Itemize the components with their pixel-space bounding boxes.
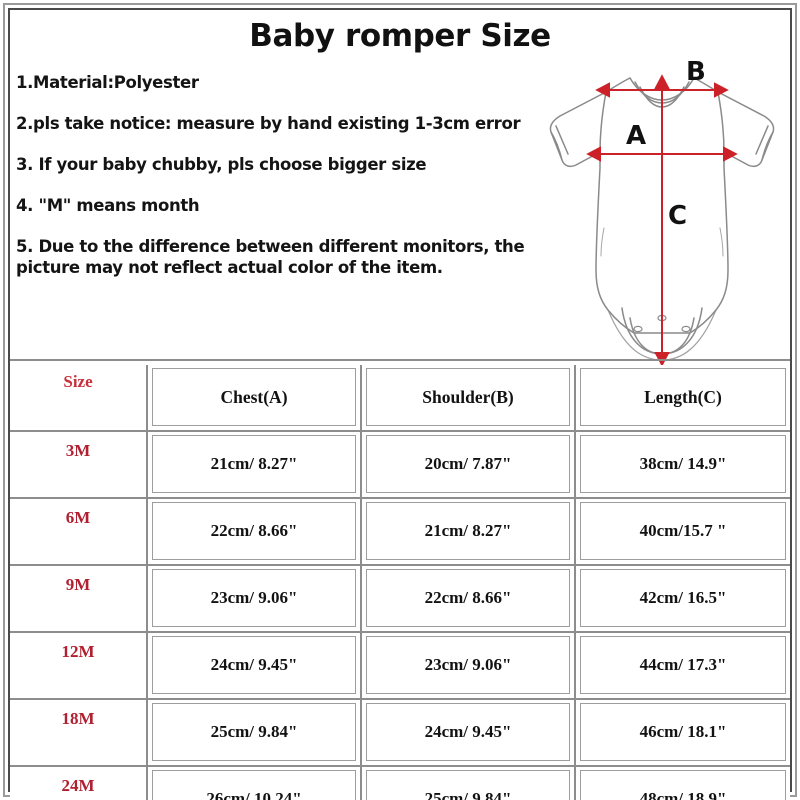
header-label-shoulder: Shoulder(B) xyxy=(366,368,570,426)
cell-length: 46cm/ 18.1" xyxy=(576,700,790,767)
size-table: Size Chest(A) Shoulder(B) Length(C) 3M xyxy=(10,365,790,800)
shoulder-value: 25cm/ 9.84" xyxy=(366,770,570,800)
length-value: 38cm/ 14.9" xyxy=(580,435,786,493)
cell-size: 12M xyxy=(10,633,148,700)
size-label: 18M xyxy=(10,700,146,758)
cell-chest: 21cm/ 8.27" xyxy=(148,432,362,499)
cell-shoulder: 24cm/ 9.45" xyxy=(362,700,576,767)
note-item: 3. If your baby chubby, pls choose bigge… xyxy=(16,154,536,175)
cell-length: 44cm/ 17.3" xyxy=(576,633,790,700)
size-label: 3M xyxy=(10,432,146,490)
cell-size: 9M xyxy=(10,566,148,633)
label-length-c: C xyxy=(668,201,687,231)
header-cell-size: Size xyxy=(10,365,148,432)
shoulder-value: 20cm/ 7.87" xyxy=(366,435,570,493)
table-row: 3M 21cm/ 8.27" 20cm/ 7.87" 38cm/ 14.9" xyxy=(10,432,790,499)
cell-chest: 25cm/ 9.84" xyxy=(148,700,362,767)
table-row: 18M 25cm/ 9.84" 24cm/ 9.45" 46cm/ 18.1" xyxy=(10,700,790,767)
romper-diagram: B A C xyxy=(538,56,786,368)
cell-size: 24M xyxy=(10,767,148,800)
cell-length: 48cm/ 18.9" xyxy=(576,767,790,800)
shoulder-value: 22cm/ 8.66" xyxy=(366,569,570,627)
size-label: 12M xyxy=(10,633,146,691)
panel-table-divider xyxy=(10,359,790,361)
cell-size: 6M xyxy=(10,499,148,566)
size-label: 24M xyxy=(10,767,146,800)
chart-content: Baby romper Size 1.Material:Polyester 2.… xyxy=(10,10,790,790)
cell-length: 38cm/ 14.9" xyxy=(576,432,790,499)
cell-shoulder: 21cm/ 8.27" xyxy=(362,499,576,566)
length-value: 40cm/15.7 " xyxy=(580,502,786,560)
note-item: 5. Due to the difference between differe… xyxy=(16,236,536,278)
length-value: 46cm/ 18.1" xyxy=(580,703,786,761)
header-label-size: Size xyxy=(10,365,146,423)
table-row: 9M 23cm/ 9.06" 22cm/ 8.66" 42cm/ 16.5" xyxy=(10,566,790,633)
table-row: 12M 24cm/ 9.45" 23cm/ 9.06" 44cm/ 17.3" xyxy=(10,633,790,700)
label-shoulder-b: B xyxy=(686,57,706,87)
header-cell-shoulder: Shoulder(B) xyxy=(362,365,576,432)
header-label-length: Length(C) xyxy=(580,368,786,426)
note-item: 4. "M" means month xyxy=(16,195,536,216)
shoulder-value: 23cm/ 9.06" xyxy=(366,636,570,694)
size-label: 6M xyxy=(10,499,146,557)
cell-chest: 26cm/ 10.24" xyxy=(148,767,362,800)
cell-shoulder: 20cm/ 7.87" xyxy=(362,432,576,499)
size-label: 9M xyxy=(10,566,146,624)
table-header-row: Size Chest(A) Shoulder(B) Length(C) xyxy=(10,365,790,432)
cell-size: 18M xyxy=(10,700,148,767)
shoulder-value: 21cm/ 8.27" xyxy=(366,502,570,560)
cell-shoulder: 23cm/ 9.06" xyxy=(362,633,576,700)
note-item: 1.Material:Polyester xyxy=(16,72,536,93)
length-value: 42cm/ 16.5" xyxy=(580,569,786,627)
cell-chest: 22cm/ 8.66" xyxy=(148,499,362,566)
note-item: 2.pls take notice: measure by hand exist… xyxy=(16,113,536,134)
chest-value: 26cm/ 10.24" xyxy=(152,770,356,800)
notes-list: 1.Material:Polyester 2.pls take notice: … xyxy=(16,72,536,278)
label-chest-a: A xyxy=(626,121,646,151)
shoulder-value: 24cm/ 9.45" xyxy=(366,703,570,761)
table-row: 6M 22cm/ 8.66" 21cm/ 8.27" 40cm/15.7 " xyxy=(10,499,790,566)
cell-length: 42cm/ 16.5" xyxy=(576,566,790,633)
chest-value: 24cm/ 9.45" xyxy=(152,636,356,694)
header-label-chest: Chest(A) xyxy=(152,368,356,426)
chest-value: 25cm/ 9.84" xyxy=(152,703,356,761)
cell-shoulder: 22cm/ 8.66" xyxy=(362,566,576,633)
cell-size: 3M xyxy=(10,432,148,499)
cell-chest: 23cm/ 9.06" xyxy=(148,566,362,633)
header-cell-chest: Chest(A) xyxy=(148,365,362,432)
table-row: 24M 26cm/ 10.24" 25cm/ 9.84" 48cm/ 18.9" xyxy=(10,767,790,800)
cell-chest: 24cm/ 9.45" xyxy=(148,633,362,700)
cell-length: 40cm/15.7 " xyxy=(576,499,790,566)
length-value: 48cm/ 18.9" xyxy=(580,770,786,800)
header-cell-length: Length(C) xyxy=(576,365,790,432)
chest-value: 23cm/ 9.06" xyxy=(152,569,356,627)
chest-value: 21cm/ 8.27" xyxy=(152,435,356,493)
length-value: 44cm/ 17.3" xyxy=(580,636,786,694)
chest-value: 22cm/ 8.66" xyxy=(152,502,356,560)
size-chart-page: Baby romper Size 1.Material:Polyester 2.… xyxy=(0,0,800,800)
cell-shoulder: 25cm/ 9.84" xyxy=(362,767,576,800)
page-title: Baby romper Size xyxy=(10,18,790,54)
